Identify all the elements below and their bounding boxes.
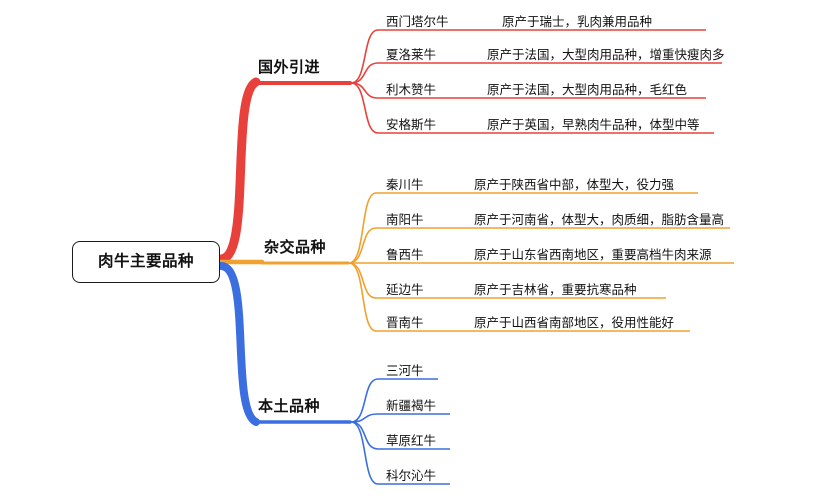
leaf-desc-hybrid-3: 原产于山东省西南地区，重要高档牛肉来源 [474, 249, 712, 262]
leaf-label-foreign-2[interactable]: 夏洛莱牛 [386, 49, 436, 62]
connector-root-to-foreign [221, 82, 256, 259]
leaf-label-native-4[interactable]: 科尔沁牛 [386, 470, 436, 483]
connector-foreign-leaf-2 [351, 63, 722, 83]
leaf-label-hybrid-4[interactable]: 延边牛 [386, 284, 424, 297]
leaf-desc-foreign-3: 原产于法国，大型肉用品种，毛红色 [487, 84, 687, 97]
leaf-desc-hybrid-1: 原产于陕西省中部，体型大，役力强 [474, 179, 674, 192]
root-node[interactable]: 肉牛主要品种 [72, 241, 220, 283]
leaf-label-native-2[interactable]: 新疆褐牛 [386, 400, 436, 413]
leaf-label-foreign-1[interactable]: 西门塔尔牛 [386, 16, 449, 29]
leaf-label-hybrid-1[interactable]: 秦川牛 [386, 179, 424, 192]
leaf-desc-foreign-1: 原产于瑞士，乳肉兼用品种 [502, 16, 652, 29]
leaf-label-hybrid-2[interactable]: 南阳牛 [386, 214, 424, 227]
branch-label-native[interactable]: 本土品种 [258, 399, 320, 414]
leaf-desc-foreign-4: 原产于英国，早熟肉牛品种，体型中等 [487, 119, 700, 132]
leaf-label-hybrid-3[interactable]: 鲁西牛 [386, 249, 424, 262]
leaf-label-foreign-3[interactable]: 利木赞牛 [386, 84, 436, 97]
leaf-label-hybrid-5[interactable]: 晋南牛 [386, 317, 424, 330]
leaf-desc-hybrid-5: 原产于山西省南部地区，役用性能好 [474, 317, 674, 330]
leaf-label-native-3[interactable]: 草原红牛 [386, 435, 436, 448]
connector-native-leaf-2 [351, 414, 450, 422]
branch-label-hybrid[interactable]: 杂交品种 [264, 240, 326, 255]
leaf-desc-hybrid-2: 原产于河南省，体型大，肉质细，脂肪含量高 [474, 214, 724, 227]
leaf-label-foreign-4[interactable]: 安格斯牛 [386, 119, 436, 132]
root-node-label: 肉牛主要品种 [98, 254, 194, 270]
branch-label-foreign[interactable]: 国外引进 [258, 60, 320, 75]
connector-root-to-native [221, 266, 256, 422]
leaf-label-native-1[interactable]: 三河牛 [386, 365, 424, 378]
leaf-desc-hybrid-4: 原产于吉林省，重要抗寒品种 [474, 284, 637, 297]
leaf-desc-foreign-2: 原产于法国，大型肉用品种，增重快瘦肉多 [487, 49, 725, 62]
